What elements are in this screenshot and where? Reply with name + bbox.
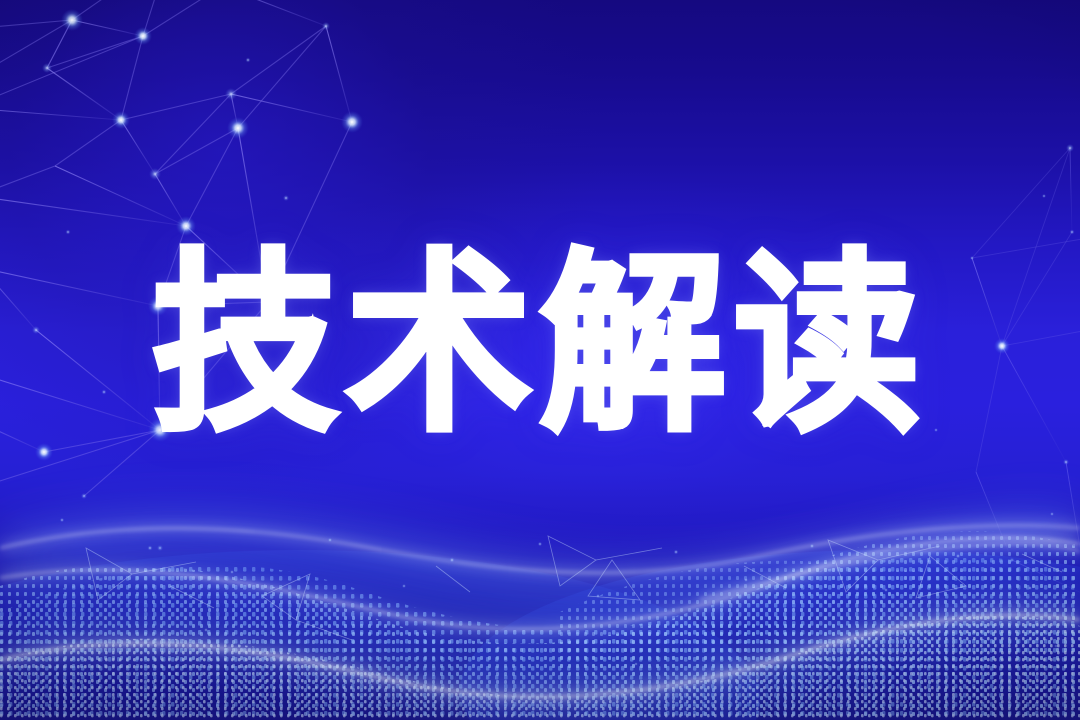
banner-title-container: 技术解读 (0, 238, 1080, 452)
banner-title: 技术解读 (152, 248, 928, 441)
tech-banner: 技术解读 (0, 0, 1080, 720)
